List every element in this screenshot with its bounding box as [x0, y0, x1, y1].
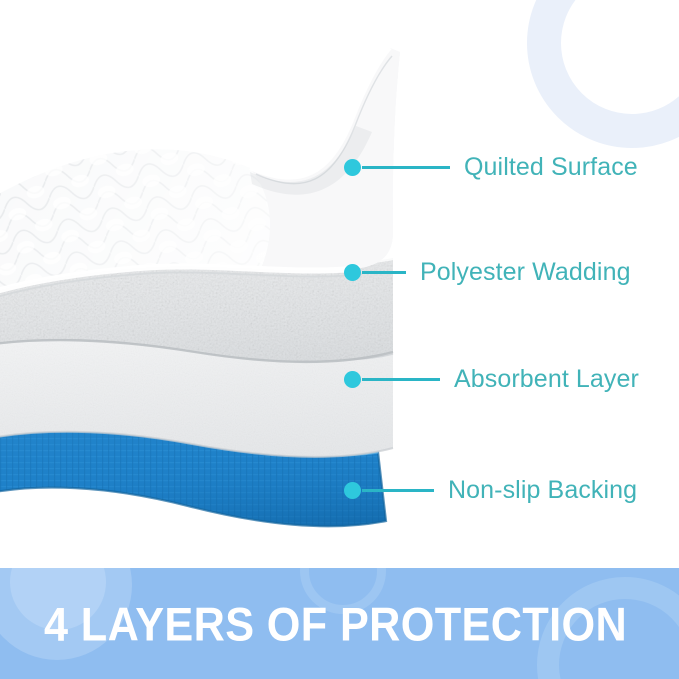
callout-dot-icon — [344, 159, 361, 176]
infographic-page: Quilted Surface Polyester Wadding Absorb… — [0, 0, 679, 679]
banner-title: 4 LAYERS OF PROTECTION — [44, 600, 627, 647]
callout-absorbent-layer: Absorbent Layer — [344, 366, 639, 392]
callout-leader-line — [362, 271, 406, 274]
callout-label-quilted-surface: Quilted Surface — [464, 155, 638, 180]
callout-dot-icon — [344, 264, 361, 281]
callout-leader-line — [362, 378, 440, 381]
callout-label-non-slip-backing: Non-slip Backing — [448, 478, 637, 503]
callout-quilted-surface: Quilted Surface — [344, 154, 638, 180]
callout-dot-icon — [344, 482, 361, 499]
bottom-banner: 4 LAYERS OF PROTECTION — [0, 568, 679, 679]
callout-dot-icon — [344, 371, 361, 388]
callout-polyester-wadding: Polyester Wadding — [344, 259, 631, 285]
callout-leader-line — [362, 489, 434, 492]
callout-label-absorbent-layer: Absorbent Layer — [454, 367, 639, 392]
callout-leader-line — [362, 166, 450, 169]
callout-label-polyester-wadding: Polyester Wadding — [420, 260, 631, 285]
callout-non-slip-backing: Non-slip Backing — [344, 477, 637, 503]
